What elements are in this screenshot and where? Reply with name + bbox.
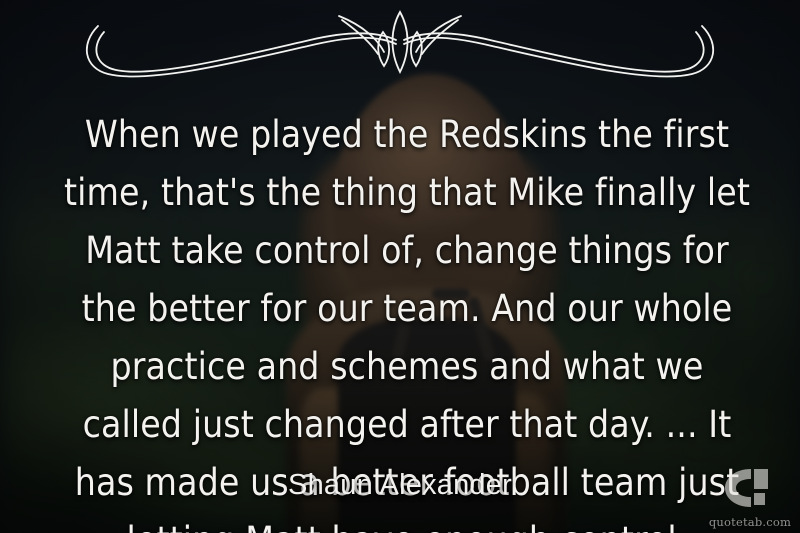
quotetab-logo-icon	[721, 467, 783, 511]
quote-author: Shaun Alexander	[0, 468, 800, 502]
quote-card: When we played the Redskins the first ti…	[0, 0, 800, 533]
watermark-site-label: quotetab.com	[708, 515, 792, 529]
flourish-ornament-icon	[78, 10, 722, 82]
watermark[interactable]: quotetab.com	[708, 467, 792, 529]
